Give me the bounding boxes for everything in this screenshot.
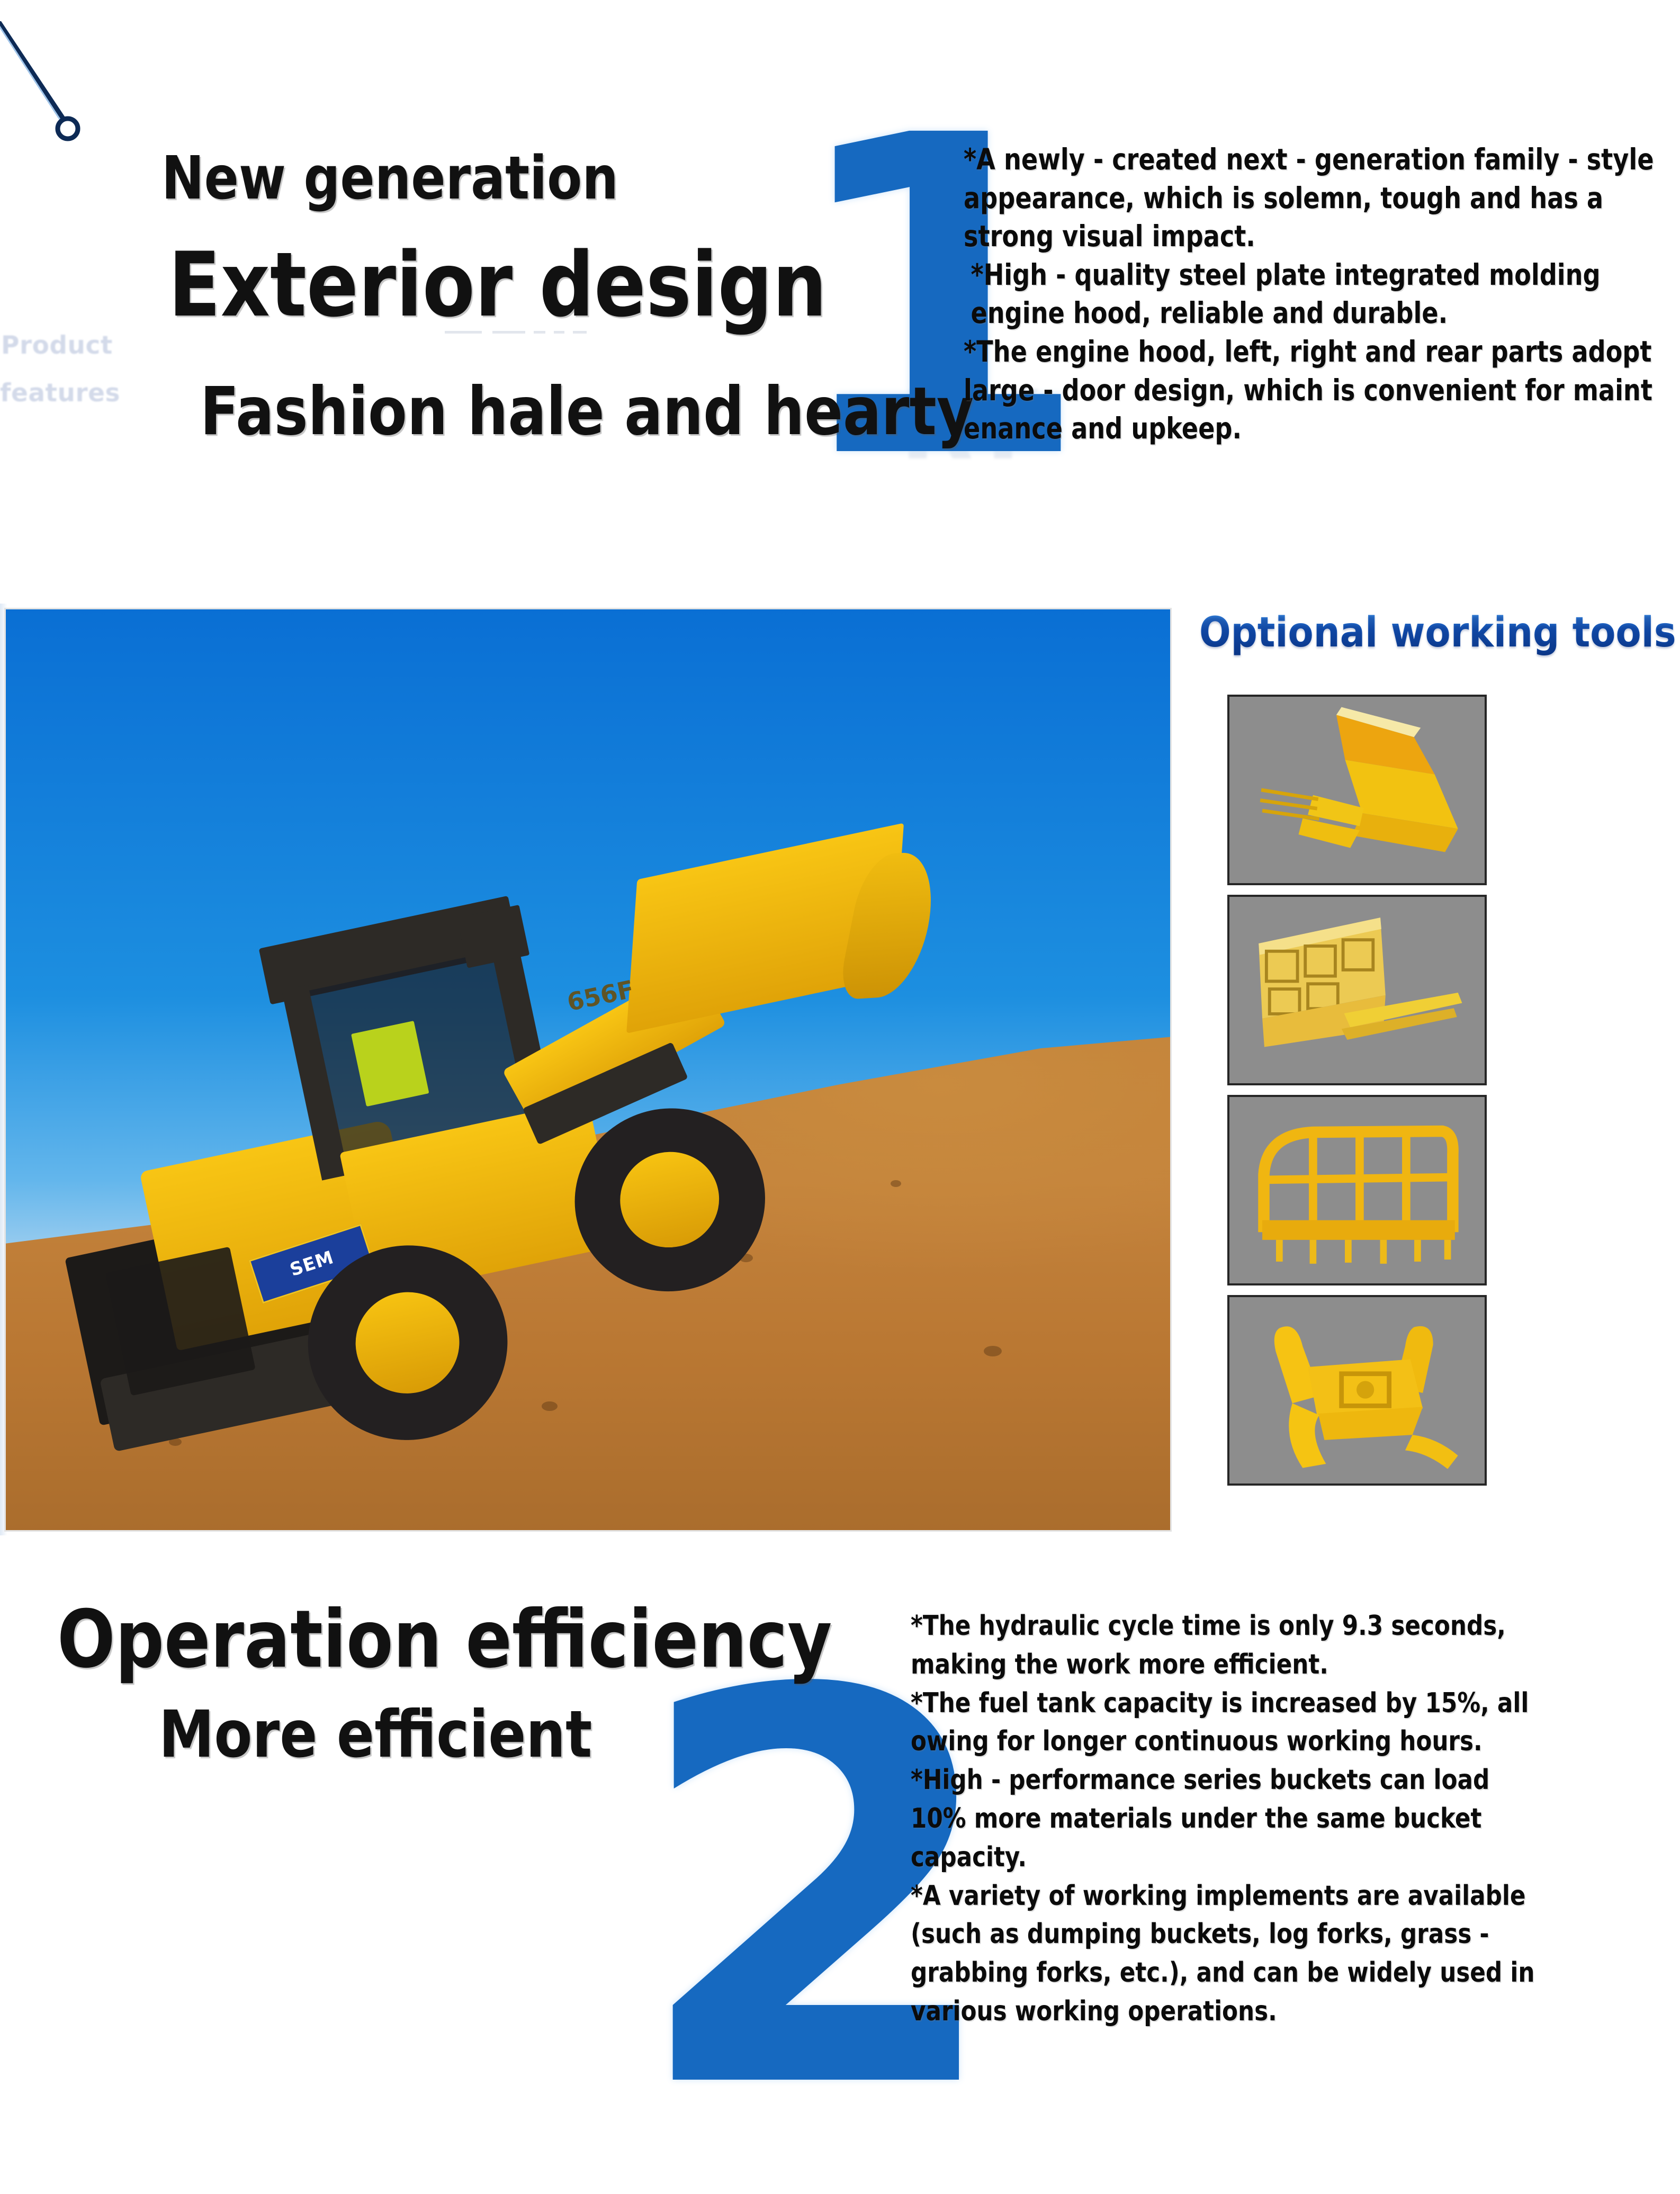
grass-grabbing-fork-icon — [1229, 1097, 1485, 1283]
heading-fashion-hale-and-hearty: Fashion hale and hearty — [200, 373, 974, 450]
bullet-steel-plate: *High - quality steel plate integrated m… — [964, 256, 1675, 332]
bullet-buckets-load: *High - performance series buckets can l… — [911, 1761, 1582, 1876]
pallet-fork-icon — [1229, 897, 1485, 1083]
loader-photo: 656F SEM — [4, 608, 1172, 1532]
optional-tools-list — [1227, 695, 1487, 1495]
bullet-fuel-tank: *The fuel tank capacity is increased by … — [911, 1684, 1582, 1761]
watermark-features: features — [0, 379, 120, 408]
watermark-product: Product — [1, 331, 113, 360]
section2-bullet-list: *The hydraulic cycle time is only 9.3 se… — [911, 1607, 1582, 2031]
log-fork-icon — [1229, 1297, 1485, 1483]
heading-new-generation: New generation — [161, 144, 618, 213]
bullet-hydraulic-cycle: *The hydraulic cycle time is only 9.3 se… — [911, 1607, 1582, 1684]
tool-card-pallet-fork[interactable] — [1227, 895, 1487, 1085]
radiator-grille — [105, 1246, 255, 1396]
heading-exterior-design: Exterior design — [168, 233, 827, 337]
heading-more-efficient: More efficient — [159, 1697, 592, 1772]
tool-card-dumping-bucket[interactable] — [1227, 695, 1487, 885]
optional-working-tools-title: Optional working tools — [1199, 609, 1676, 657]
tool-card-log-fork[interactable] — [1227, 1295, 1487, 1486]
bullet-engine-hood-doors: *The engine hood, left, right and rear p… — [964, 332, 1675, 448]
bullet-implements: *A variety of working implements are ava… — [911, 1877, 1582, 2031]
dumping-bucket-icon — [1229, 697, 1485, 883]
tool-card-grass-grabbing-fork[interactable] — [1227, 1095, 1487, 1285]
bullet-appearance: *A newly - created next - generation fam… — [964, 140, 1675, 256]
decorative-hook-line — [0, 21, 138, 180]
heading-operation-efficiency: Operation efficiency — [57, 1594, 832, 1686]
slide-page: Product features RY 1 New generation Ext… — [0, 0, 1680, 2194]
section1-bullet-list: *A newly - created next - generation fam… — [964, 140, 1675, 448]
